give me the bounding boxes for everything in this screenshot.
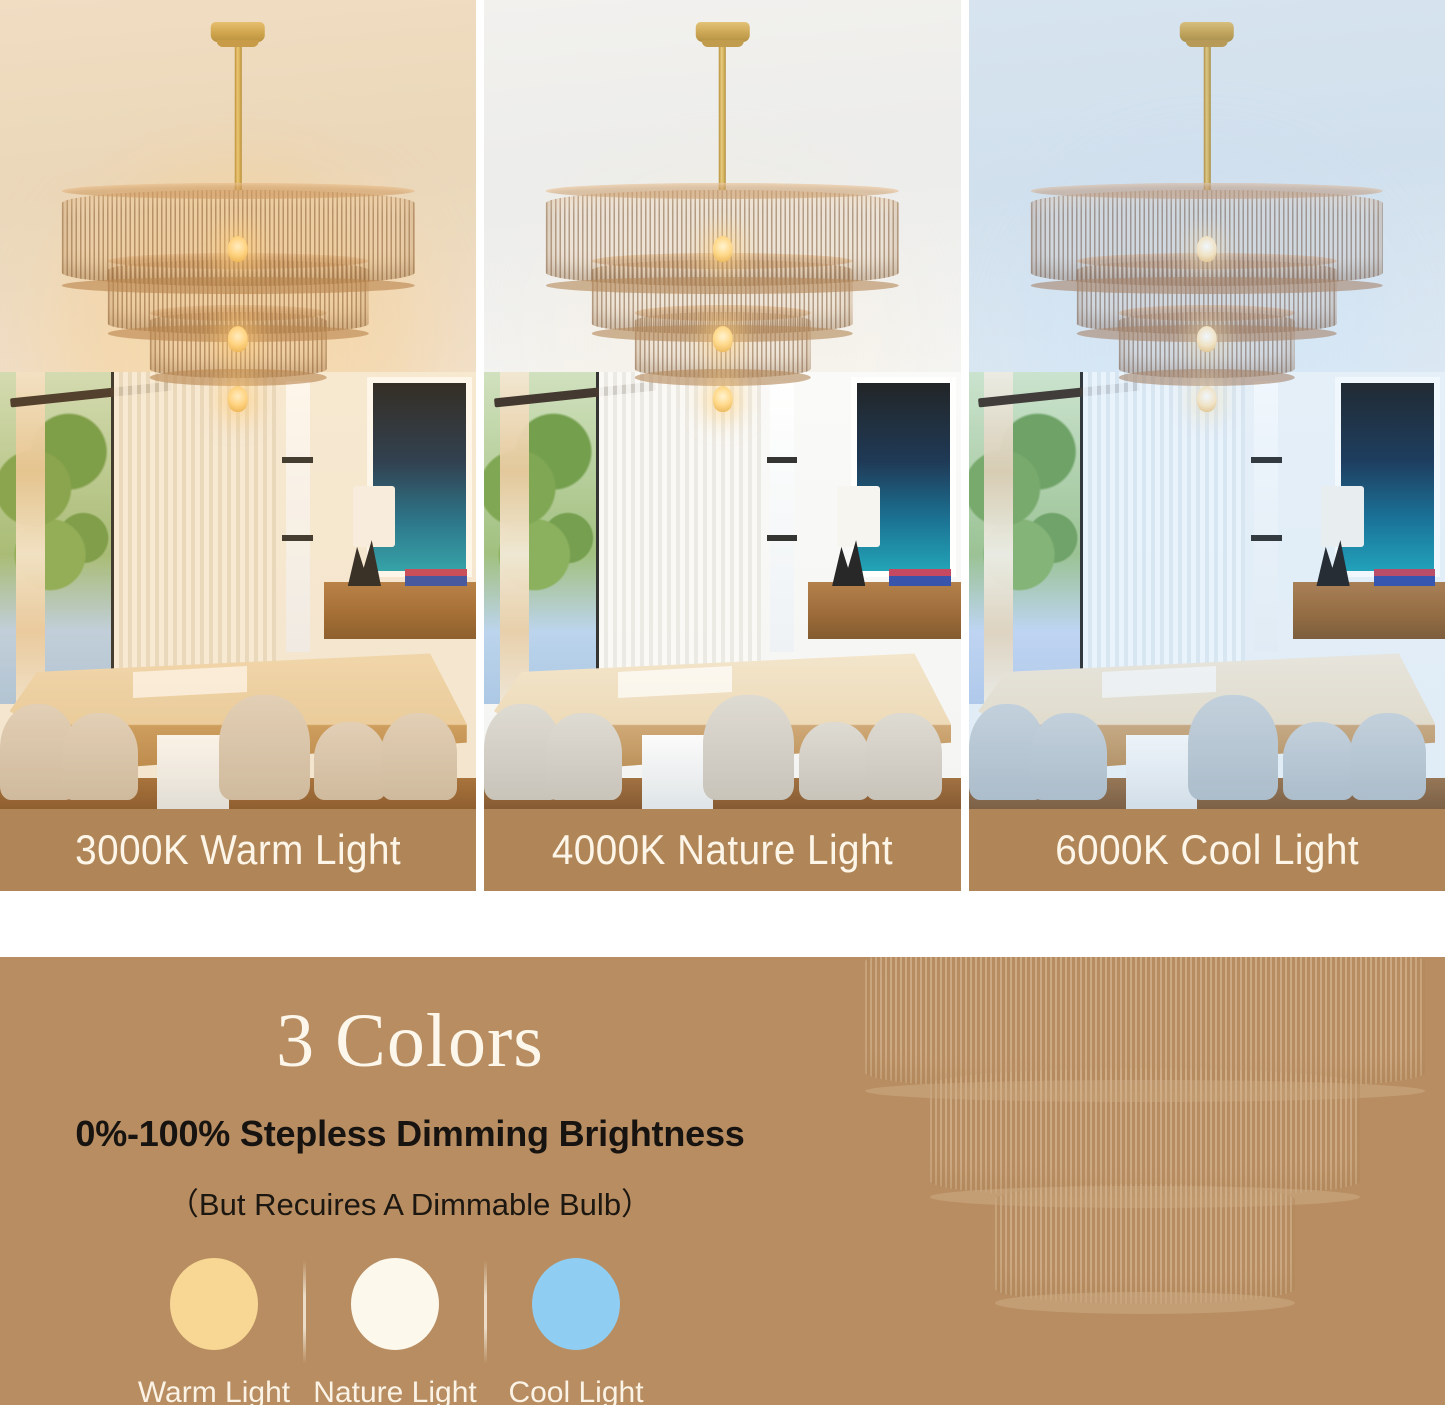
framed-artwork <box>1335 377 1440 578</box>
window <box>484 372 598 704</box>
books <box>405 569 467 586</box>
downrod <box>235 42 242 190</box>
bulb-icon <box>228 386 248 412</box>
dining-chair <box>219 695 310 800</box>
promo-text-block: 3 Colors 0%-100% Stepless Dimming Bright… <box>0 957 820 1405</box>
dining-room <box>0 372 476 809</box>
panel-cool-light: 6000K Cool Light <box>969 0 1445 891</box>
swatch-warm-light[interactable]: Warm Light <box>125 1258 303 1405</box>
swatch-nature-light[interactable]: Nature Light <box>306 1258 484 1405</box>
label-cool-light: 6000K Cool Light <box>1055 826 1359 874</box>
product-feature-image: 3000K Warm Light <box>0 0 1445 1405</box>
narrow-window <box>286 381 310 652</box>
color-swatch-row: Warm Light Nature Light Cool Light <box>125 1258 665 1405</box>
room-photo-cool <box>969 0 1445 809</box>
dining-chair <box>1188 695 1279 800</box>
label-bar-warm: 3000K Warm Light <box>0 809 476 891</box>
label-bar-nature: 4000K Nature Light <box>484 809 960 891</box>
watermark-tier-bottom <box>995 1184 1295 1304</box>
label-warm-light: 3000K Warm Light <box>75 826 401 874</box>
rattan-shade-tiers <box>546 190 898 378</box>
sideboard <box>1293 582 1445 639</box>
marble-table-base <box>157 735 228 809</box>
dining-room <box>484 372 960 809</box>
label-bar-cool: 6000K Cool Light <box>969 809 1445 891</box>
dining-chair <box>62 713 138 800</box>
pillar <box>984 372 1013 704</box>
framed-artwork <box>851 377 956 578</box>
bulb-icon <box>228 326 248 352</box>
dining-chair <box>546 713 622 800</box>
bulb-icon <box>712 386 732 412</box>
bulb-icon <box>1197 326 1217 352</box>
dining-chair <box>1283 722 1354 801</box>
color-temperature-comparison: 3000K Warm Light <box>0 0 1445 891</box>
dining-chair <box>1031 713 1107 800</box>
dimming-promo-section: 3 Colors 0%-100% Stepless Dimming Bright… <box>0 957 1445 1405</box>
chandelier <box>62 22 414 378</box>
chandelier <box>1031 22 1383 378</box>
watermark-tier-middle <box>930 1068 1360 1198</box>
chandelier-watermark <box>815 957 1445 1405</box>
dining-chair <box>314 722 385 801</box>
bulb-icon <box>712 236 732 262</box>
bulb-icon <box>712 326 732 352</box>
swatch-dot-nature <box>351 1258 439 1350</box>
panel-nature-light: 4000K Nature Light <box>484 0 960 891</box>
table-lamp <box>1321 486 1364 547</box>
ceiling-canopy <box>695 22 749 42</box>
swatch-dot-warm <box>170 1258 258 1350</box>
pillar <box>500 372 529 704</box>
sideboard <box>808 582 960 639</box>
ceiling-canopy <box>211 22 265 42</box>
swatch-cool-light[interactable]: Cool Light <box>487 1258 665 1405</box>
dining-room <box>969 372 1445 809</box>
chandelier <box>546 22 898 378</box>
downrod <box>719 42 726 190</box>
rattan-shade-tiers <box>62 190 414 378</box>
window <box>0 372 114 704</box>
window <box>969 372 1083 704</box>
marble-table-base <box>1126 735 1197 809</box>
room-photo-nature <box>484 0 960 809</box>
panel-warm-light: 3000K Warm Light <box>0 0 476 891</box>
promo-subheading: 0%-100% Stepless Dimming Brightness <box>75 1113 744 1155</box>
bulb-icon <box>228 236 248 262</box>
promo-heading: 3 Colors <box>276 1003 544 1079</box>
ceiling-canopy <box>1180 22 1234 42</box>
dining-chair <box>703 695 794 800</box>
swatch-label-warm: Warm Light <box>138 1376 290 1405</box>
dining-chair <box>865 713 941 800</box>
bulb-icon <box>1197 386 1217 412</box>
label-nature-light: 4000K Nature Light <box>552 826 893 874</box>
dining-chair <box>1350 713 1426 800</box>
dining-chair <box>381 713 457 800</box>
downrod <box>1203 42 1210 190</box>
books <box>889 569 951 586</box>
table-lamp <box>353 486 396 547</box>
books <box>1374 569 1436 586</box>
narrow-window <box>1254 381 1278 652</box>
swatch-label-cool: Cool Light <box>508 1376 643 1405</box>
narrow-window <box>770 381 794 652</box>
promo-note: （But Recuires A Dimmable Bulb） <box>168 1179 652 1224</box>
swatch-dot-cool <box>532 1258 620 1350</box>
bulb-icon <box>1197 236 1217 262</box>
room-photo-warm <box>0 0 476 809</box>
framed-artwork <box>367 377 472 578</box>
pillar <box>16 372 45 704</box>
sideboard <box>324 582 476 639</box>
rattan-shade-tiers <box>1031 190 1383 378</box>
swatch-label-nature: Nature Light <box>313 1376 476 1405</box>
dining-chair <box>799 722 870 801</box>
marble-table-base <box>642 735 713 809</box>
table-lamp <box>837 486 880 547</box>
